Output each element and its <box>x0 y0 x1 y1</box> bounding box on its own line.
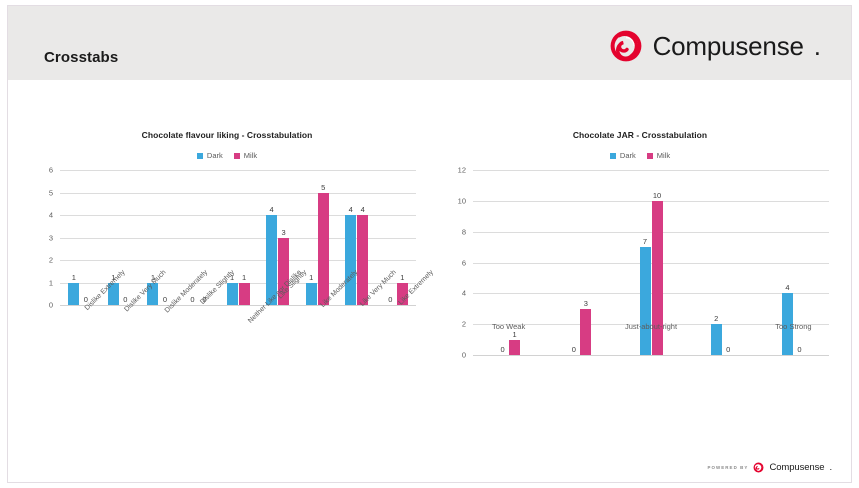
y-axis-tick: 6 <box>462 258 466 267</box>
footer-brand-wordmark: Compusense <box>769 462 824 473</box>
legend-item-milk: Milk <box>647 151 670 160</box>
y-axis: 024681012 <box>445 170 471 355</box>
chart-title: Chocolate JAR - Crosstabulation <box>445 130 835 140</box>
bar-value-label: 4 <box>361 205 365 214</box>
legend-item-milk: Milk <box>234 151 257 160</box>
brand-wordmark: Compusense <box>653 31 804 62</box>
x-axis-cell: Like Moderately <box>297 265 337 335</box>
legend-swatch-milk-icon <box>647 153 653 159</box>
y-axis-tick: 2 <box>49 256 53 265</box>
x-axis-cell: Dislike Very Much <box>100 265 140 335</box>
legend-item-dark: Dark <box>610 151 636 160</box>
legend-label-dark: Dark <box>207 151 223 160</box>
y-axis-tick: 0 <box>462 351 466 360</box>
chart-chocolate-flavour-liking: Chocolate flavour liking - Crosstabulati… <box>32 120 422 385</box>
legend-label-dark: Dark <box>620 151 636 160</box>
y-axis-tick: 12 <box>458 166 466 175</box>
x-axis-tick-label: Too Strong <box>761 321 825 332</box>
y-axis-tick: 5 <box>49 188 53 197</box>
footer-branding: POWERED BY Compusense . <box>707 462 832 473</box>
brand-period: . <box>814 31 821 62</box>
x-axis-cell: Too Strong <box>758 315 829 385</box>
x-axis-cell: Just-about-right <box>615 315 686 385</box>
y-axis-tick: 0 <box>49 301 53 310</box>
page-header: Crosstabs Compusense . <box>8 6 851 80</box>
chart-chocolate-jar: Chocolate JAR - Crosstabulation Dark Mil… <box>445 120 835 385</box>
bar-value-label: 4 <box>349 205 353 214</box>
x-axis-tick-label: Too Weak <box>477 321 541 332</box>
legend-label-milk: Milk <box>244 151 257 160</box>
y-axis-tick: 4 <box>49 211 53 220</box>
y-axis-tick: 3 <box>49 233 53 242</box>
bar-value-label: 3 <box>584 299 588 308</box>
y-axis-tick: 6 <box>49 166 53 175</box>
bar-value-label: 3 <box>282 228 286 237</box>
y-axis-tick: 10 <box>458 196 466 205</box>
y-axis-tick: 4 <box>462 289 466 298</box>
chart-title: Chocolate flavour liking - Crosstabulati… <box>32 130 422 140</box>
slide-page: Crosstabs Compusense . Chocolate flavour… <box>0 0 859 488</box>
x-axis-cell: Dislike Moderately <box>139 265 179 335</box>
x-axis-cell <box>687 315 758 385</box>
legend-swatch-dark-icon <box>610 153 616 159</box>
x-axis-cell: Dislike Extremely <box>60 265 100 335</box>
chart-legend: Dark Milk <box>32 151 422 160</box>
legend-label-milk: Milk <box>657 151 670 160</box>
x-axis-cell: Dislike Slightly <box>179 265 219 335</box>
bar-value-label: 4 <box>785 283 789 292</box>
x-axis: Dislike ExtremelyDislike Very MuchDislik… <box>60 265 416 335</box>
y-axis-tick: 1 <box>49 278 53 287</box>
footer-powered-by-label: POWERED BY <box>707 465 748 470</box>
chart-legend: Dark Milk <box>445 151 835 160</box>
x-axis-cell: Too Weak <box>473 315 544 385</box>
bar-value-label: 10 <box>653 191 661 200</box>
legend-item-dark: Dark <box>197 151 223 160</box>
y-axis-tick: 8 <box>462 227 466 236</box>
x-axis-cell: Neither Like nor Dislike <box>218 265 258 335</box>
x-axis-tick-label: Just-about-right <box>619 321 683 332</box>
x-axis-cell: Like Extremely <box>377 265 417 335</box>
x-axis-cell <box>544 315 615 385</box>
x-axis: Too WeakJust-about-rightToo Strong <box>473 315 829 385</box>
compusense-spiral-icon <box>609 29 643 63</box>
x-axis-cell: Like Very Much <box>337 265 377 335</box>
bar-value-label: 7 <box>643 237 647 246</box>
footer-brand-period: . <box>829 462 832 473</box>
x-axis-cell: Like Slightly <box>258 265 298 335</box>
footer-compusense-spiral-icon <box>753 462 764 473</box>
compusense-logo: Compusense . <box>609 29 821 63</box>
y-axis-tick: 2 <box>462 320 466 329</box>
y-axis: 0123456 <box>32 170 58 305</box>
legend-swatch-dark-icon <box>197 153 203 159</box>
page-title: Crosstabs <box>44 49 118 66</box>
bar-value-label: 4 <box>270 205 274 214</box>
bar-value-label: 5 <box>321 183 325 192</box>
legend-swatch-milk-icon <box>234 153 240 159</box>
